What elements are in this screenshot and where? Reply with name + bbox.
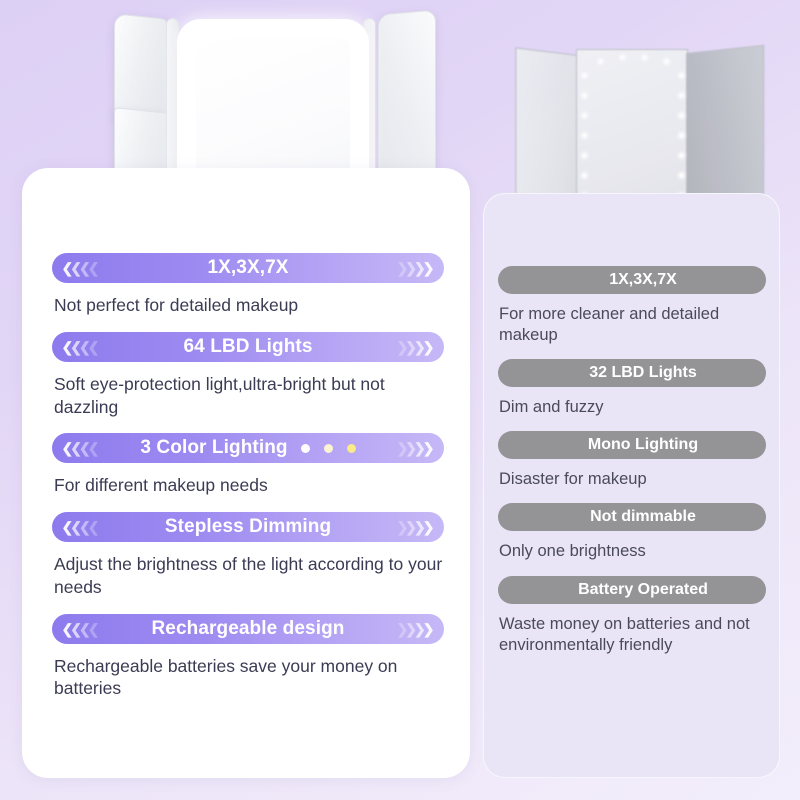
color-temperature-dots [301,444,356,453]
bad-feature-item: Not dimmable Only one brightness [498,503,766,562]
good-feature-pill-label: 64 LBD Lights [183,336,312,358]
good-feature-description: Rechargeable batteries save your money o… [52,655,444,701]
good-feature-pill-label: Stepless Dimming [165,516,331,538]
bad-feature-list: 1X,3X,7X For more cleaner and detailed m… [498,266,766,656]
good-feature-item: ❮❮❮❮ 3 Color Lighting ❯❯❯❯ For different… [52,433,444,497]
bad-feature-pill-label: Not dimmable [590,508,696,526]
led-dot [679,113,684,118]
bad-feature-description: Disaster for makeup [498,469,766,490]
bad-feature-description: Waste money on batteries and not environ… [498,614,766,656]
good-feature-pill-label: 1X,3X,7X [207,257,288,279]
bad-feature-description: Dim and fuzzy [498,397,766,418]
good-feature-pill-label: 3 Color Lighting [140,437,287,459]
good-feature-pill-label: Rechargeable design [151,618,344,640]
chevron-right-icon: ❯❯❯❯ [398,433,433,463]
chevron-right-icon: ❯❯❯❯ [398,332,433,362]
good-feature-item: ❮❮❮❮ 64 LBD Lights ❯❯❯❯ Soft eye-protect… [52,332,444,419]
chevron-left-icon: ❮❮❮❮ [63,253,98,283]
good-feature-description: Not perfect for detailed makeup [52,294,444,317]
mirror-left-wing-top [114,13,168,127]
bad-feature-pill[interactable]: Not dimmable [498,503,766,531]
bad-feature-pill[interactable]: Battery Operated [498,576,766,604]
chevron-left-icon: ❮❮❮❮ [63,332,98,362]
chevron-left-icon: ❮❮❮❮ [63,512,98,542]
good-feature-item: ❮❮❮❮ Stepless Dimming ❯❯❯❯ Adjust the br… [52,512,444,599]
bad-feature-description: Only one brightness [498,541,766,562]
good-feature-pill[interactable]: ❮❮❮❮ Stepless Dimming ❯❯❯❯ [52,512,444,542]
chevron-left-icon: ❮❮❮❮ [63,433,98,463]
led-dot [598,59,603,64]
good-feature-item: ❮❮❮❮ 1X,3X,7X ❯❯❯❯ Not perfect for detai… [52,253,444,317]
good-feature-description: Soft eye-protection light,ultra-bright b… [52,373,444,419]
chevron-right-icon: ❯❯❯❯ [398,614,433,644]
good-feature-pill[interactable]: ❮❮❮❮ 3 Color Lighting ❯❯❯❯ [52,433,444,463]
led-dot [582,113,587,118]
good-feature-description: Adjust the brightness of the light accor… [52,553,444,599]
chevron-right-icon: ❯❯❯❯ [398,512,433,542]
chevron-right-icon: ❯❯❯❯ [398,253,433,283]
color-dot [347,444,356,453]
led-dot [679,133,684,138]
led-dot [582,93,587,98]
chevron-left-icon: ❮❮❮❮ [63,614,98,644]
bad-feature-pill[interactable]: 32 LBD Lights [498,359,766,387]
led-dot [582,153,587,158]
led-dot [620,55,625,60]
bad-feature-description: For more cleaner and detailed makeup [498,304,766,346]
good-feature-pill[interactable]: ❮❮❮❮ Rechargeable design ❯❯❯❯ [52,614,444,644]
led-dot [679,73,684,78]
led-dot [642,55,647,60]
good-feature-item: ❮❮❮❮ Rechargeable design ❯❯❯❯ Rechargeab… [52,614,444,701]
bad-feature-item: 32 LBD Lights Dim and fuzzy [498,359,766,418]
bad-feature-pill[interactable]: Mono Lighting [498,431,766,459]
bad-feature-item: 1X,3X,7X For more cleaner and detailed m… [498,266,766,346]
led-dot [582,173,587,178]
bad-feature-pill-label: Battery Operated [578,581,708,599]
good-feature-pill[interactable]: ❮❮❮❮ 64 LBD Lights ❯❯❯❯ [52,332,444,362]
led-dot [679,173,684,178]
led-dot [679,153,684,158]
bad-feature-item: Mono Lighting Disaster for makeup [498,431,766,490]
bad-feature-pill-label: 32 LBD Lights [589,364,697,382]
bad-product-card: 1X,3X,7X For more cleaner and detailed m… [483,193,780,778]
bad-feature-pill-label: Mono Lighting [588,436,698,454]
led-dot [679,93,684,98]
color-dot [324,444,333,453]
led-dot [664,59,669,64]
bad-feature-pill[interactable]: 1X,3X,7X [498,266,766,294]
good-product-card: ❮❮❮❮ 1X,3X,7X ❯❯❯❯ Not perfect for detai… [22,168,470,778]
good-feature-list: ❮❮❮❮ 1X,3X,7X ❯❯❯❯ Not perfect for detai… [52,253,444,700]
led-dot [582,133,587,138]
led-dot [582,73,587,78]
good-feature-description: For different makeup needs [52,474,444,497]
color-dot [301,444,310,453]
bad-feature-pill-label: 1X,3X,7X [609,271,677,289]
bad-feature-item: Battery Operated Waste money on batterie… [498,576,766,656]
good-feature-pill[interactable]: ❮❮❮❮ 1X,3X,7X ❯❯❯❯ [52,253,444,283]
